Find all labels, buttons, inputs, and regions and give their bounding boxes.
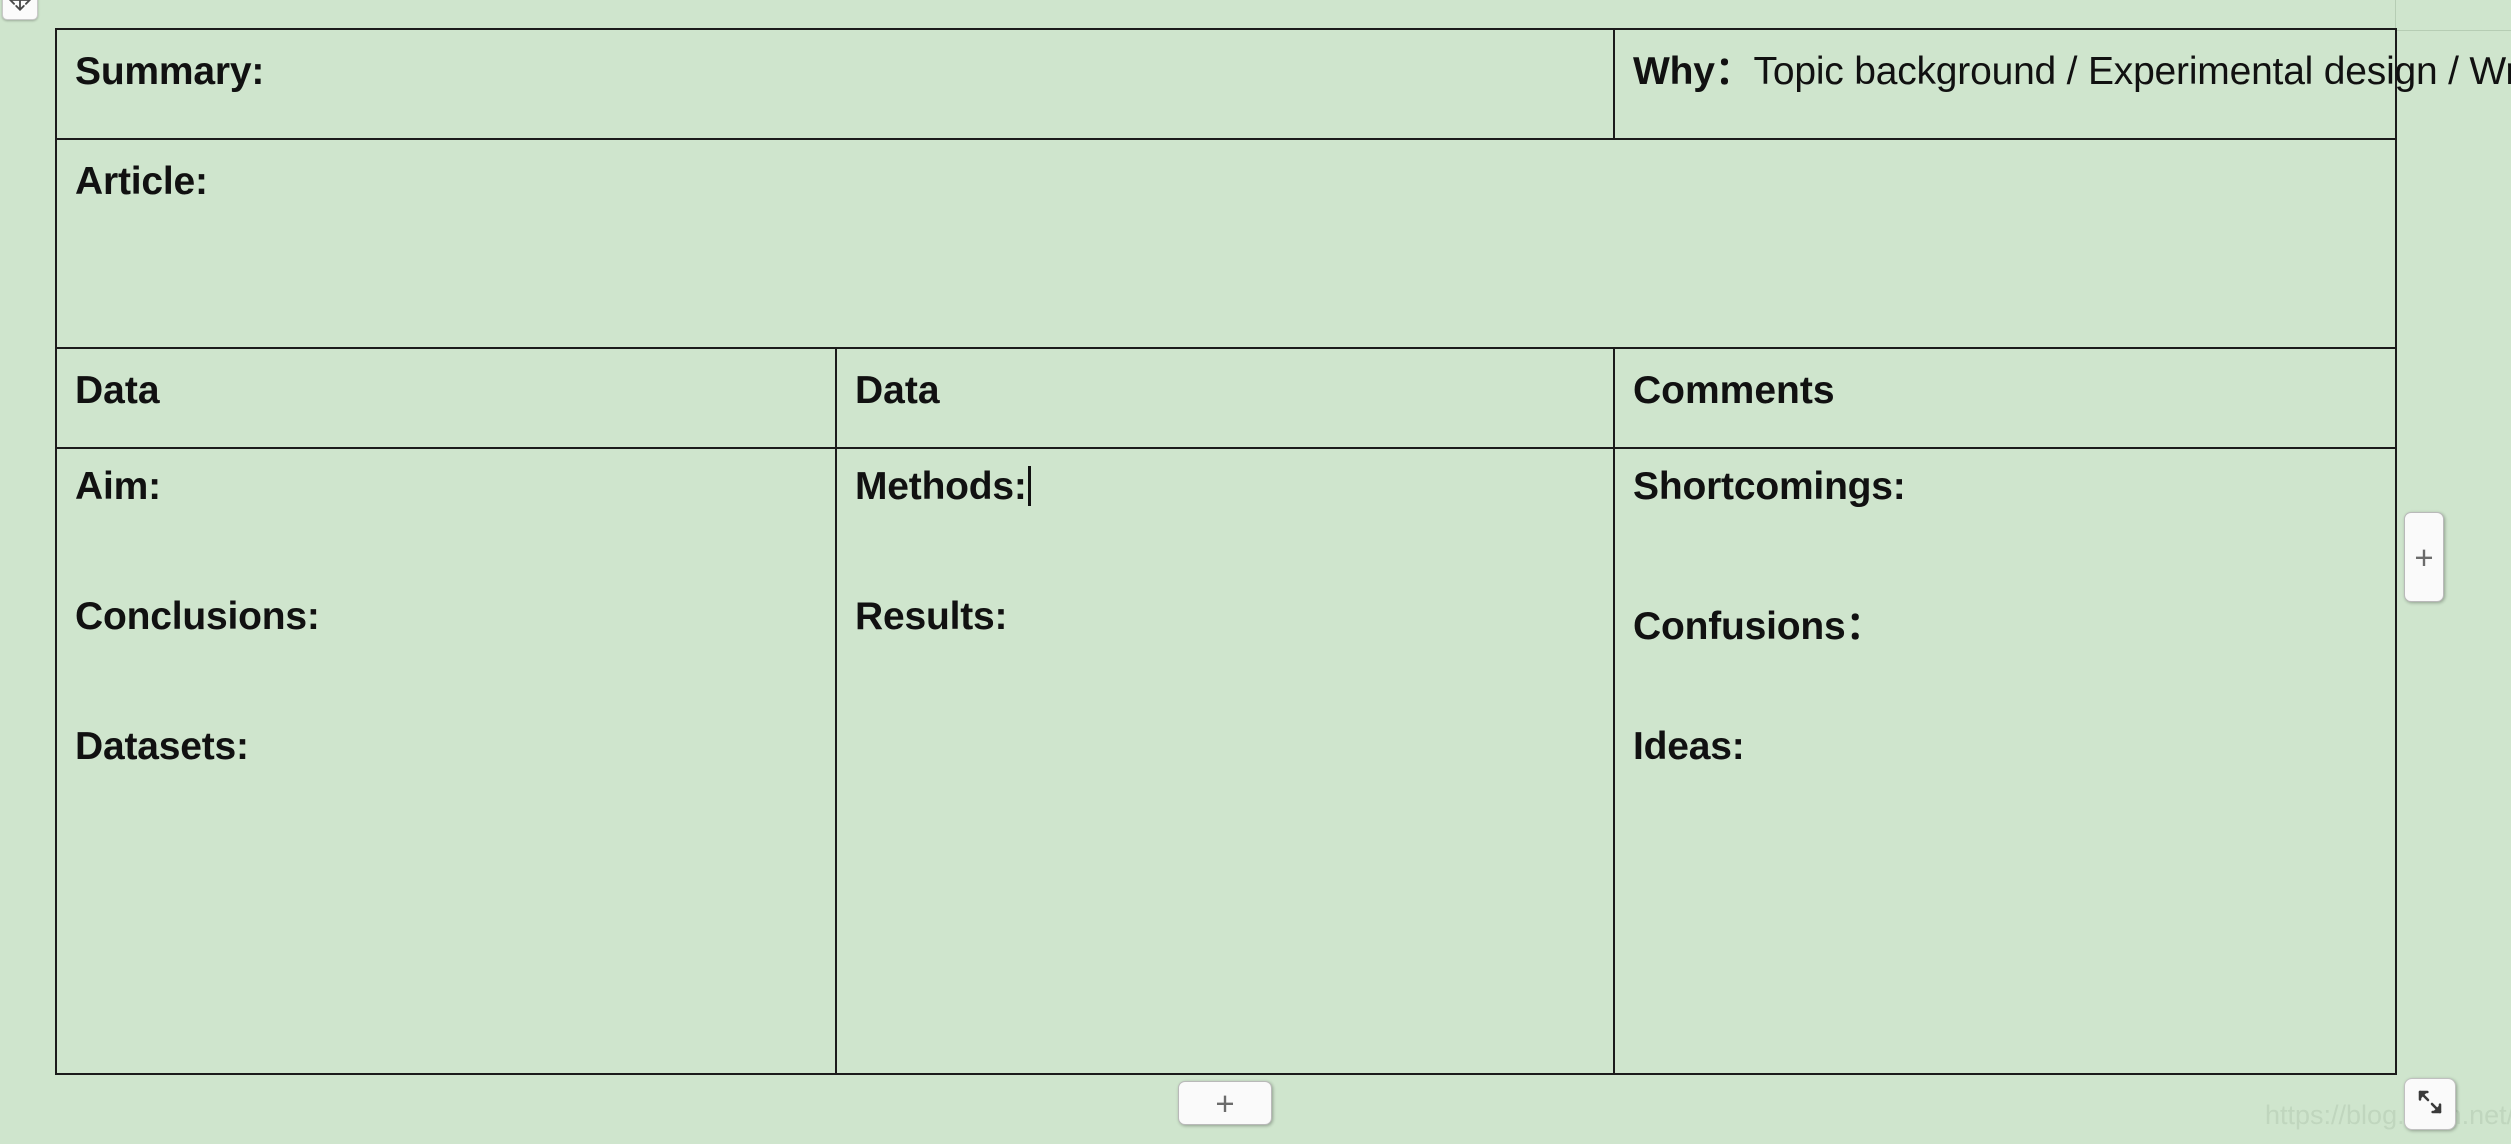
field-results[interactable]: Results: [855,595,1007,639]
why-value: Topic background / Experimental design /… [1754,50,2511,93]
cell-col-1-body[interactable]: Aim: Conclusions: Datasets: [56,448,836,1074]
move-4way-icon [7,0,33,18]
field-methods[interactable]: Methods: [855,465,1031,509]
table-resize-handle[interactable] [2404,1078,2456,1130]
add-column-button[interactable]: + [2404,512,2444,602]
field-shortcomings[interactable]: Shortcomings: [1633,465,1906,509]
col-2-header-label: Data [855,369,940,412]
article-label: Article: [75,160,208,203]
cell-col-3-header[interactable]: Comments [1614,348,2396,448]
methods-label: Methods: [855,465,1027,508]
col-3-header-label: Comments [1633,369,1835,412]
add-row-button[interactable]: + [1178,1081,1272,1125]
shortcomings-label: Shortcomings: [1633,465,1906,508]
field-datasets[interactable]: Datasets: [75,725,249,769]
ideas-label: Ideas: [1633,725,1745,768]
table-row: Aim: Conclusions: Datasets: Methods: [56,448,2396,1074]
cell-col-2-header[interactable]: Data [836,348,1614,448]
field-conclusions[interactable]: Conclusions: [75,595,320,639]
cell-summary[interactable]: Summary: [56,29,1614,139]
cell-col-2-body[interactable]: Methods: Results: [836,448,1614,1074]
field-confusions[interactable]: Confusions： [1633,595,1884,651]
why-label: Why： [1633,50,1754,93]
table-row: Article: [56,139,2396,347]
cell-article[interactable]: Article: [56,139,2396,347]
watermark: https://blog.csdn.net/Sylvia_Lan [2265,1100,2511,1131]
table-row: Summary: Why：Topic background / Experime… [56,29,2396,139]
text-caret [1028,466,1031,506]
notes-table[interactable]: Summary: Why：Topic background / Experime… [55,28,2397,1075]
conclusions-label: Conclusions: [75,595,320,638]
field-aim[interactable]: Aim: [75,465,161,509]
table-move-handle[interactable] [2,0,38,20]
resize-diagonal-icon [2414,1086,2446,1123]
cell-col-3-body[interactable]: Shortcomings: Confusions： Ideas: [1614,448,2396,1074]
plus-icon: + [1215,1087,1234,1120]
grid-line-horizontal [2395,30,2511,31]
table-header-row: Data Data Comments [56,348,2396,448]
datasets-label: Datasets: [75,725,249,768]
notes-table-container[interactable]: Summary: Why：Topic background / Experime… [55,28,2395,1075]
field-ideas[interactable]: Ideas: [1633,725,1745,769]
plus-icon: + [2414,541,2433,574]
grid-line-vertical [2395,0,2396,30]
summary-label: Summary: [75,50,264,93]
aim-label: Aim: [75,465,161,508]
cell-why[interactable]: Why：Topic background / Experimental desi… [1614,29,2396,139]
results-label: Results: [855,595,1007,638]
confusions-label: Confusions： [1633,605,1884,648]
cell-col-1-header[interactable]: Data [56,348,836,448]
col-1-header-label: Data [75,369,160,412]
